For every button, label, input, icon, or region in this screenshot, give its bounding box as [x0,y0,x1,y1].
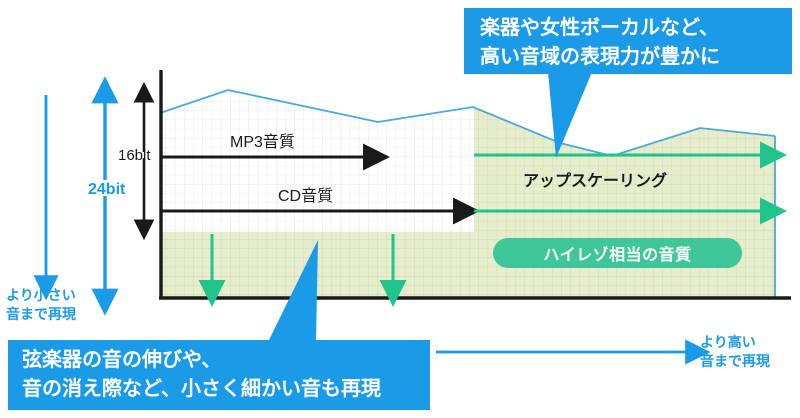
callout-bottom-left: 弦楽器の音の伸びや、 音の消え際など、小さく細かい音も再現 [8,340,430,410]
callout-top-right-line1: 楽器や女性ボーカルなど、 [480,14,778,43]
cd-quality-label: CD音質 [278,187,333,207]
note-smaller-sound-line1: より小さい [6,286,76,305]
mp3-quality-label: MP3音質 [230,133,295,153]
note-smaller-sound-line2: 音まで再現 [6,305,76,324]
hires-quality-badge: ハイレゾ相当の音質 [493,238,742,268]
bit16-label: 16bit [118,146,151,165]
upscaling-label: アップスケーリング [523,172,667,192]
callout-top-right: 楽器や女性ボーカルなど、 高い音域の表現力が豊かに [464,8,792,74]
note-higher-sound-line2: 音まで再現 [700,352,770,371]
callout-bottom-left-line1: 弦楽器の音の伸びや、 [22,346,416,375]
bit24-label: 24bit [88,180,125,200]
callout-bottom-left-line2: 音の消え際など、小さく細かい音も再現 [22,375,416,404]
note-higher-sound: より高い 音まで再現 [700,333,770,371]
note-higher-sound-line1: より高い [700,333,770,352]
diagram-canvas: 16bit 24bit MP3音質 CD音質 アップスケーリング ハイレゾ相当の… [0,0,800,418]
callout-top-right-line2: 高い音域の表現力が豊かに [480,43,778,72]
note-smaller-sound: より小さい 音まで再現 [6,286,76,324]
